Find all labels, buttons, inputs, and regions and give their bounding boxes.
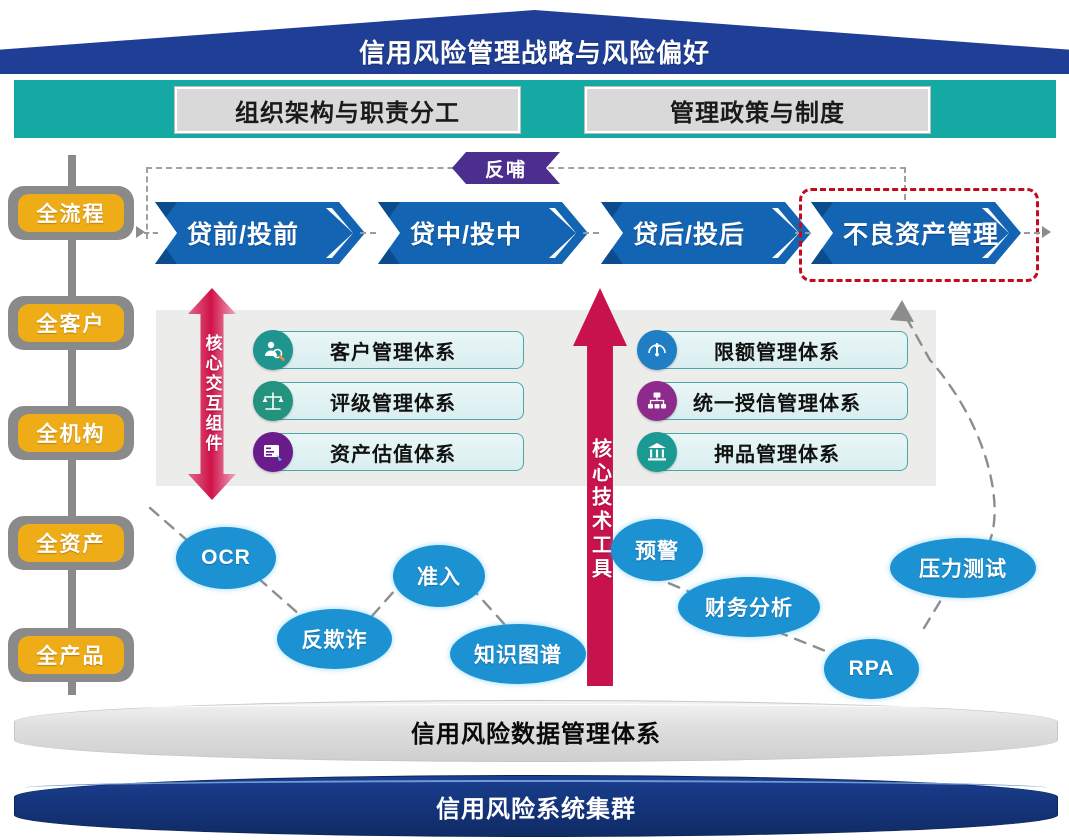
- process-stage-label: 贷中/投中: [410, 215, 522, 251]
- chevron-notch-icon: [326, 208, 353, 258]
- dimension-pill-all-customers[interactable]: 全客户: [8, 296, 134, 350]
- component-rating-management[interactable]: 评级管理体系: [268, 382, 524, 420]
- dimension-label: 全流程: [18, 194, 124, 232]
- process-entry-dash: [144, 232, 158, 234]
- bank-icon: [637, 432, 677, 472]
- tech-tool-anti-fraud[interactable]: 反欺诈: [277, 609, 392, 669]
- chevron-lip: [155, 202, 177, 264]
- tech-tool-ocr[interactable]: OCR: [176, 527, 276, 589]
- process-stage-pre-loan[interactable]: 贷前/投前: [155, 202, 365, 264]
- process-connector-dash: [583, 232, 599, 234]
- gauge-icon: [637, 330, 677, 370]
- data-management-layer: 信用风险数据管理体系: [14, 700, 1058, 762]
- component-label: 客户管理体系: [269, 336, 523, 365]
- credit-risk-framework-diagram: 信用风险管理战略与风险偏好 组织架构与职责分工 管理政策与制度 全流程 全客户 …: [0, 0, 1069, 840]
- cylinder-top-cap: [21, 704, 1051, 721]
- chevron-lip: [601, 202, 623, 264]
- system-cluster-layer: 信用风险系统集群: [14, 775, 1058, 837]
- chevron-lip: [378, 202, 400, 264]
- component-unified-credit-management[interactable]: 统一授信管理体系: [652, 382, 908, 420]
- scales-icon: [253, 381, 293, 421]
- dimension-pill-full-process[interactable]: 全流程: [8, 186, 134, 240]
- feedback-line-left-drop: [146, 167, 148, 239]
- component-collateral-management[interactable]: 押品管理体系: [652, 433, 908, 471]
- component-label: 评级管理体系: [269, 387, 523, 416]
- component-customer-management[interactable]: 客户管理体系: [268, 331, 524, 369]
- core-interactive-components-label: 核心交互组件: [200, 334, 225, 454]
- dimension-pill-all-institutions[interactable]: 全机构: [8, 406, 134, 460]
- component-label: 限额管理体系: [653, 336, 907, 365]
- tech-tool-knowledge-graph[interactable]: 知识图谱: [450, 624, 586, 684]
- valuation-document-icon: [253, 432, 293, 472]
- tech-tool-financial-analysis[interactable]: 财务分析: [678, 577, 820, 637]
- org-tree-icon: [637, 381, 677, 421]
- strategy-roof-banner: 信用风险管理战略与风险偏好: [0, 10, 1069, 74]
- process-connector-dash: [360, 232, 376, 234]
- dimension-label: 全产品: [18, 636, 124, 674]
- npl-highlight-box: [799, 188, 1039, 282]
- governance-box-policy[interactable]: 管理政策与制度: [584, 86, 931, 134]
- chevron-notch-icon: [549, 208, 576, 258]
- process-stage-label: 贷后/投后: [633, 215, 745, 251]
- feedback-banner: 反哺: [452, 152, 560, 184]
- component-asset-valuation[interactable]: 资产估值体系: [268, 433, 524, 471]
- core-tech-tools-label: 核心技术工具: [586, 438, 615, 582]
- tech-tool-admission[interactable]: 准入: [393, 545, 485, 607]
- process-stage-post-loan[interactable]: 贷后/投后: [601, 202, 811, 264]
- process-entry-arrow-icon: [136, 226, 145, 238]
- roof-title: 信用风险管理战略与风险偏好: [0, 33, 1069, 70]
- process-stage-label: 贷前/投前: [187, 215, 299, 251]
- dimension-label: 全客户: [18, 304, 124, 342]
- tech-tool-early-warning[interactable]: 预警: [611, 519, 703, 581]
- component-label: 资产估值体系: [269, 438, 523, 467]
- process-exit-arrow-icon: [1042, 226, 1051, 238]
- process-stage-in-loan[interactable]: 贷中/投中: [378, 202, 588, 264]
- dimension-label: 全机构: [18, 414, 124, 452]
- governance-band: 组织架构与职责分工 管理政策与制度: [14, 80, 1056, 138]
- tech-tool-rpa[interactable]: RPA: [824, 639, 919, 699]
- governance-box-structure[interactable]: 组织架构与职责分工: [174, 86, 521, 134]
- process-exit-dash: [1024, 232, 1040, 234]
- dimension-label: 全资产: [18, 524, 124, 562]
- cylinder-top-cap: [23, 780, 1049, 796]
- tech-tool-stress-test[interactable]: 压力测试: [890, 538, 1036, 598]
- dimension-pill-all-assets[interactable]: 全资产: [8, 516, 134, 570]
- component-limit-management[interactable]: 限额管理体系: [652, 331, 908, 369]
- component-label: 统一授信管理体系: [653, 387, 907, 416]
- dimension-pill-all-products[interactable]: 全产品: [8, 628, 134, 682]
- customer-search-icon: [253, 330, 293, 370]
- component-label: 押品管理体系: [653, 438, 907, 467]
